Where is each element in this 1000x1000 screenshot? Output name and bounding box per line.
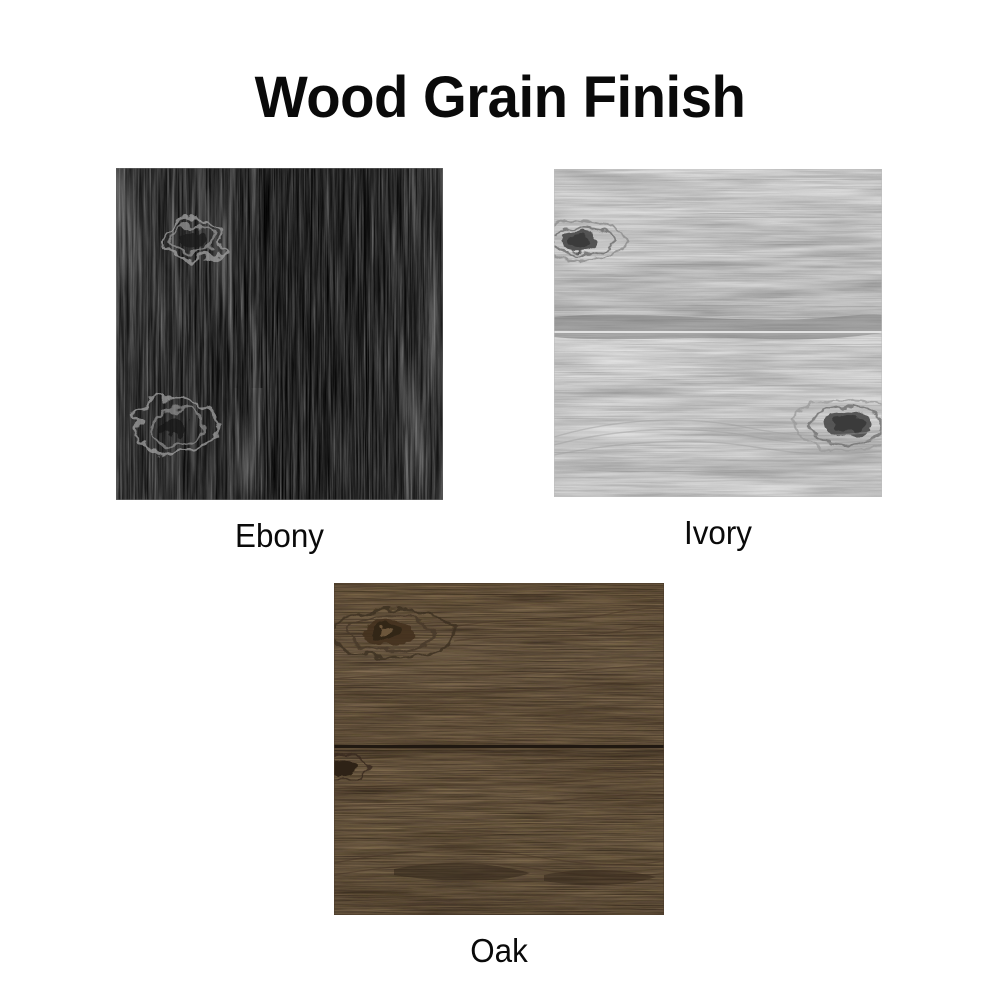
page-background: Wood Grain Finish (0, 0, 1000, 1000)
swatch-ivory[interactable] (554, 169, 882, 497)
swatch-ebony[interactable] (116, 168, 443, 500)
swatch-label-oak: Oak (342, 932, 656, 970)
swatch-oak[interactable] (334, 583, 664, 915)
swatch-label-ebony: Ebony (124, 517, 435, 555)
ivory-texture (554, 169, 882, 497)
page-title: Wood Grain Finish (15, 66, 985, 130)
swatch-label-ivory: Ivory (562, 514, 874, 552)
oak-texture (334, 583, 664, 915)
ebony-texture (116, 168, 443, 500)
